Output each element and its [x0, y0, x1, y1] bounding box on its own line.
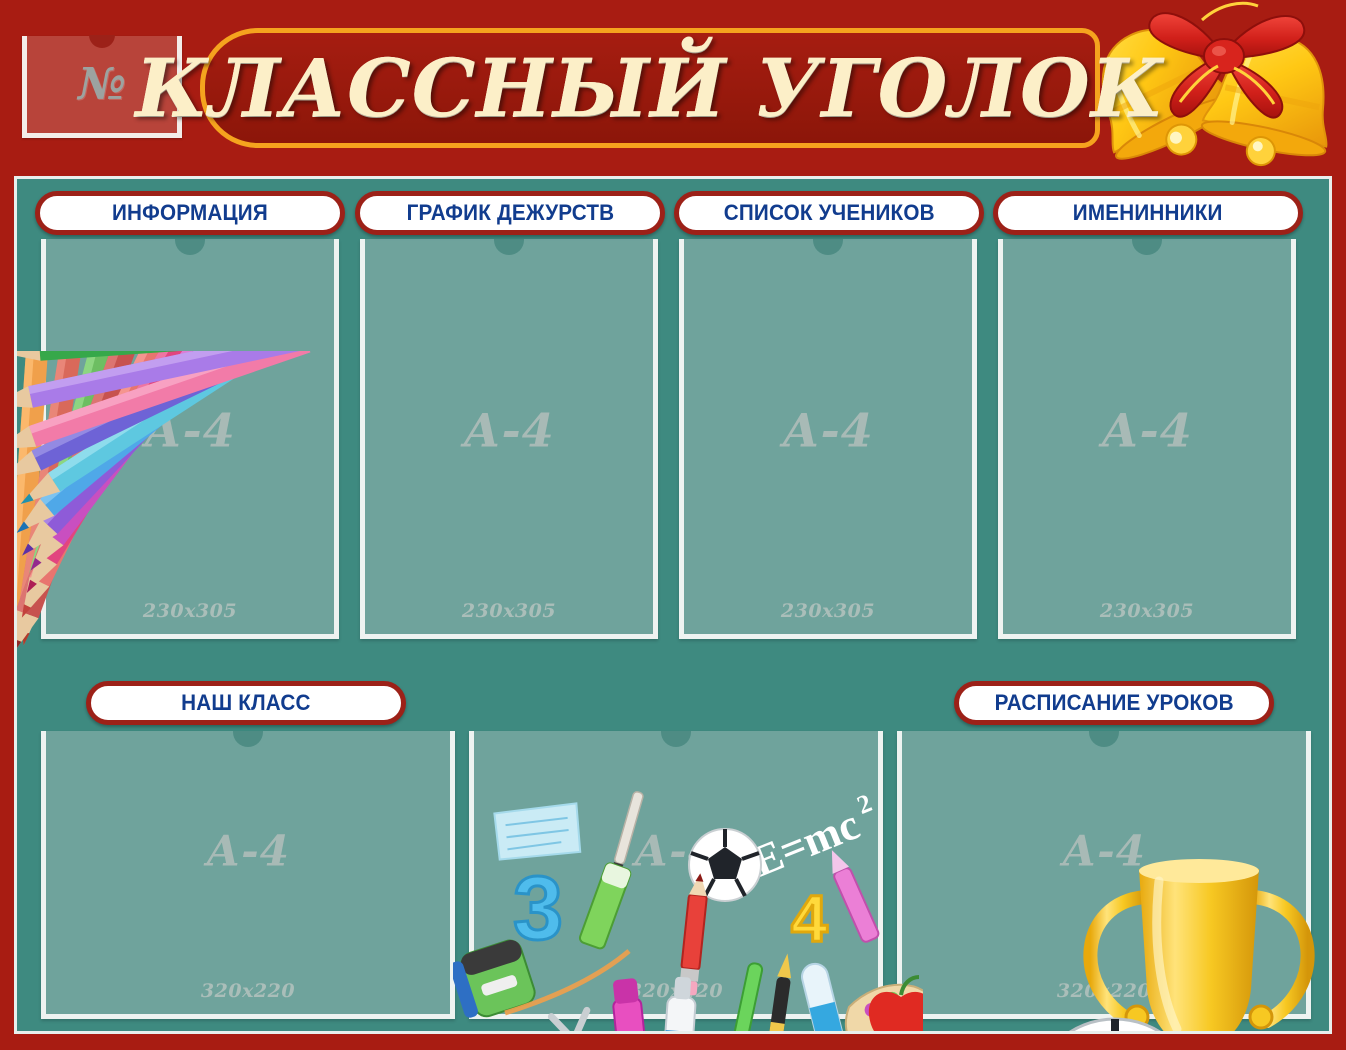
pocket-format-label: А-4 — [902, 826, 1306, 875]
pocket-dimensions-label: 320х220 — [902, 980, 1306, 1002]
section-label-duty-schedule[interactable]: ГРАФИК ДЕЖУРСТВ — [355, 191, 665, 235]
pocket-dimensions-label: 230х305 — [1003, 600, 1291, 622]
pocket-dimensions-label: 320х220 — [474, 980, 878, 1002]
classroom-corner-board: № КЛАССНЫЙ УГОЛОК — [0, 0, 1346, 1050]
pocket-dimensions-label: 320х220 — [46, 980, 450, 1002]
document-pocket-our-class[interactable]: А-4 320х220 — [41, 731, 455, 1019]
section-label-text: НАШ КЛАСС — [181, 690, 311, 716]
board-main-panel: А-4 230х305 А-4 230х305 А-4 230х305 А-4 … — [14, 176, 1332, 1034]
page-title: КЛАССНЫЙ УГОЛОК — [135, 41, 1164, 135]
document-pocket-birthdays[interactable]: А-4 230х305 — [998, 239, 1296, 639]
pocket-format-label: А-4 — [365, 403, 653, 457]
section-label-text: ИНФОРМАЦИЯ — [112, 200, 268, 226]
document-pocket-duty-schedule[interactable]: А-4 230х305 — [360, 239, 658, 639]
board-title-banner: КЛАССНЫЙ УГОЛОК — [200, 28, 1100, 148]
ribbon-bow-icon — [1149, 3, 1304, 117]
section-label-text: РАСПИСАНИЕ УРОКОВ — [994, 690, 1233, 716]
number-sign-glyph: № — [78, 63, 126, 107]
pocket-format-label: А-4 — [46, 403, 334, 457]
board-header: № КЛАССНЫЙ УГОЛОК — [0, 0, 1346, 172]
pocket-format-label: А-4 — [1003, 403, 1291, 457]
section-label-birthdays[interactable]: ИМЕНИННИКИ — [993, 191, 1303, 235]
soccer-ball-icon — [1031, 1019, 1199, 1034]
section-label-text: СПИСОК УЧЕНИКОВ — [723, 200, 934, 226]
pocket-dimensions-label: 230х305 — [46, 600, 334, 622]
section-label-text: ИМЕНИННИКИ — [1073, 200, 1223, 226]
document-pocket-information[interactable]: А-4 230х305 — [41, 239, 339, 639]
section-label-our-class[interactable]: НАШ КЛАСС — [86, 681, 406, 725]
section-label-student-list[interactable]: СПИСОК УЧЕНИКОВ — [674, 191, 984, 235]
document-pocket-center[interactable]: А-4 320х220 — [469, 731, 883, 1019]
pocket-dimensions-label: 230х305 — [684, 600, 972, 622]
document-pocket-student-list[interactable]: А-4 230х305 — [679, 239, 977, 639]
section-label-text: ГРАФИК ДЕЖУРСТВ — [406, 200, 614, 226]
section-label-lesson-schedule[interactable]: РАСПИСАНИЕ УРОКОВ — [954, 681, 1274, 725]
pocket-format-label: А-4 — [46, 826, 450, 875]
pocket-format-label: А-4 — [474, 826, 878, 875]
pocket-format-label: А-4 — [684, 403, 972, 457]
pocket-dimensions-label: 230х305 — [365, 600, 653, 622]
section-label-information[interactable]: ИНФОРМАЦИЯ — [35, 191, 345, 235]
document-pocket-lesson-schedule[interactable]: А-4 320х220 — [897, 731, 1311, 1019]
